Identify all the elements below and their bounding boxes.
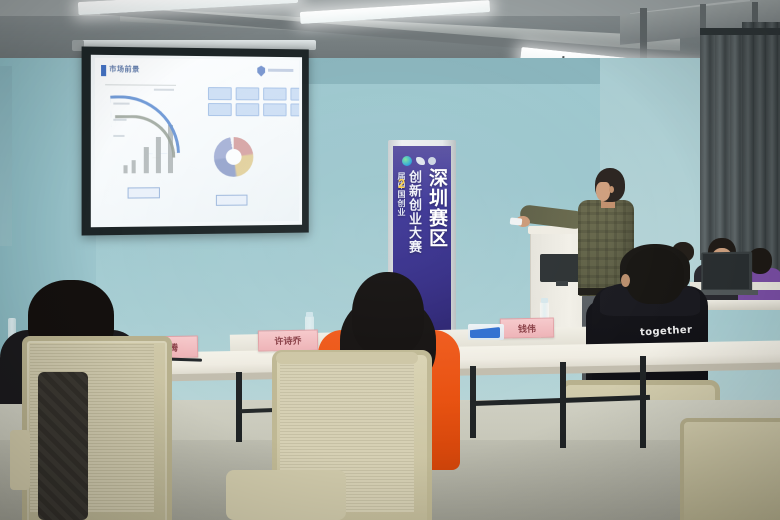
- chart-x-axis: [105, 84, 176, 86]
- ceiling-beam: [640, 8, 647, 64]
- name-card: 许诗乔: [258, 329, 318, 351]
- chair-armrest: [10, 430, 30, 490]
- slide-grid-box: [290, 88, 299, 101]
- draped-coat: [38, 372, 88, 520]
- slide-title: 市场前景: [109, 64, 140, 74]
- table-leg: [560, 362, 566, 448]
- slide-donut-hole: [226, 149, 242, 165]
- presenter-face: [596, 182, 610, 201]
- chart-bar: [123, 165, 127, 173]
- dot-logo-icon: [428, 157, 436, 165]
- slide-grid-box: [290, 103, 299, 116]
- slide-logo-wordmark: [268, 69, 293, 72]
- slide-button-left: [128, 187, 160, 198]
- laptop-screen: [703, 254, 749, 289]
- slide-grid-box: [208, 103, 232, 116]
- laptop-base: [698, 290, 758, 295]
- chart-bar: [132, 160, 136, 173]
- podium-monitor-base: [556, 281, 568, 286]
- chart-text-line: [154, 89, 174, 91]
- table-leg: [236, 372, 242, 442]
- slide-grid-box: [208, 87, 232, 100]
- banner-main-text: 深圳赛区: [423, 168, 450, 248]
- chair-top-rail: [276, 352, 418, 364]
- orange-jacket-head: [352, 272, 424, 356]
- globe-logo-icon: [402, 156, 412, 166]
- banner-edition-number: 2: [394, 176, 409, 192]
- watermark: 智能公会 www.zngh.com: [652, 458, 776, 514]
- slide-grid-box: [236, 103, 260, 116]
- shield-logo-icon: [257, 66, 265, 77]
- presenter-ear: [609, 186, 614, 193]
- name-card: 钱伟: [500, 318, 554, 339]
- slide-grid-box: [263, 103, 286, 116]
- water-bottle-cap: [541, 298, 548, 303]
- hoodie-attendee-ear: [621, 274, 630, 287]
- presentation-clicker: [510, 217, 523, 225]
- water-bottle-cap: [306, 312, 313, 317]
- office-chair: [226, 470, 346, 520]
- slide-grid-box: [236, 87, 260, 100]
- photo-scene: 市场前景: [0, 0, 780, 520]
- window-curtain: [742, 22, 780, 272]
- curtain-rail: [700, 28, 780, 35]
- slide-title-accent-bar: [101, 65, 106, 76]
- slide-grid-box: [263, 87, 286, 100]
- table-leg: [640, 356, 646, 448]
- slide-growth-chart: [105, 84, 192, 173]
- projected-slide: 市场前景: [95, 58, 299, 223]
- hoodie-attendee-head: [626, 248, 684, 304]
- wall-edge-panel: [0, 66, 12, 246]
- slide-button-right: [216, 195, 248, 206]
